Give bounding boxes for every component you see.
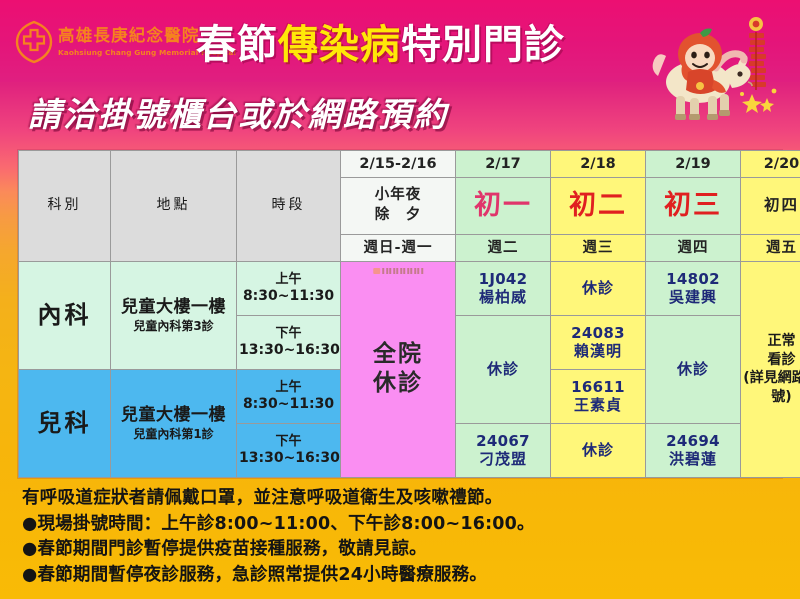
date-header-0217: 2/17 <box>485 156 521 172</box>
slot-label-text: 下午 <box>239 434 338 450</box>
timeslot-pediatrics-afternoon: 下午 13:30~16:30 <box>237 423 341 477</box>
doctor-name: 賴漢明 <box>553 342 643 361</box>
doctor-name: 吳建興 <box>648 288 738 307</box>
date-header-0220: 2/20 <box>764 156 800 172</box>
weekday-header-0219: 週四 <box>678 240 709 256</box>
cell-0219-internal-morning: 14802 吳建興 <box>646 261 741 315</box>
title-segment-highlight: 傳染病 <box>278 12 401 70</box>
weekday-header-0218: 週三 <box>583 240 614 256</box>
normal-line1: 正常 <box>743 332 800 351</box>
normal-line2: 看診 <box>743 351 800 370</box>
lunar-header-day4: 初四 <box>764 196 799 214</box>
table-row: 內科 兒童大樓一樓 兒童內科第3診 上午 8:30~11:30 全院 <box>19 261 800 315</box>
doctor-name: 楊柏威 <box>458 288 548 307</box>
notes-section: 有呼吸道症狀者請佩戴口罩，並注意呼吸道衛生及咳嗽禮節。 ●現場掛號時間：上午診8… <box>22 486 782 589</box>
slot-time-text: 13:30~16:30 <box>239 342 338 360</box>
slot-label-text: 上午 <box>239 380 338 396</box>
page-title: 春節傳染病特別門診 <box>196 14 565 68</box>
timeslot-internal-morning: 上午 8:30~11:30 <box>237 261 341 315</box>
note-line-4: ●春節期間暫停夜診服務，急診照常提供24小時醫療服務。 <box>22 563 782 589</box>
lunar-header-day2: 初二 <box>569 190 627 221</box>
full-closed-line2: 休診 <box>343 369 453 399</box>
doctor-code: 14802 <box>648 270 738 289</box>
doctor-code: 24083 <box>553 324 643 343</box>
slot-label-text: 上午 <box>239 272 338 288</box>
date-header-0219: 2/19 <box>675 156 711 172</box>
place-sub-text: 兒童內科第3診 <box>113 319 234 334</box>
poster-root: 高雄長庚紀念醫院 Kaohsiung Chang Gung Memorial H… <box>0 0 800 599</box>
note-line-3: ●春節期間門診暫停提供疫苗接種服務，敬請見諒。 <box>22 537 782 563</box>
cell-0217-closed-merged: 休診 <box>456 315 551 423</box>
doctor-name: 王素貞 <box>553 396 643 415</box>
cell-0220-normal-service: 正常 看診 (詳見網路掛號) <box>741 261 800 477</box>
column-header-dept: 科別 <box>19 151 111 262</box>
slot-time-text: 8:30~11:30 <box>239 288 338 306</box>
lunar-header-day1: 初一 <box>474 190 532 221</box>
note-line-1: 有呼吸道症狀者請佩戴口罩，並注意呼吸道衛生及咳嗽禮節。 <box>22 486 782 512</box>
table-header-dates-row: 科別 地點 時段 2/15-2/16 2/17 2/18 2/19 2/20 <box>19 151 800 178</box>
weekday-header-0215: 週日-週一 <box>363 240 432 256</box>
full-closed-line1: 全院 <box>343 340 453 370</box>
place-internal-medicine: 兒童大樓一樓 兒童內科第3診 <box>111 261 237 369</box>
note-line-2: ●現場掛號時間：上午診8:00~11:00、下午診8:00~16:00。 <box>22 512 782 538</box>
cell-full-hospital-closed: 全院 休診 <box>341 261 456 477</box>
cell-0218-internal-afternoon: 24083 賴漢明 <box>551 315 646 369</box>
dept-pediatrics: 兒科 <box>19 369 111 477</box>
place-sub-text: 兒童內科第1診 <box>113 427 234 442</box>
watermark-logo-icon <box>373 268 423 274</box>
dept-internal-medicine: 內科 <box>19 261 111 369</box>
cell-0217-internal-morning: 1J042 楊柏威 <box>456 261 551 315</box>
doctor-code: 1J042 <box>458 270 548 289</box>
doctor-code: 24694 <box>648 432 738 451</box>
schedule-table: 科別 地點 時段 2/15-2/16 2/17 2/18 2/19 2/20 小… <box>18 150 800 478</box>
hospital-cross-icon <box>14 20 54 64</box>
doctor-code: 24067 <box>458 432 548 451</box>
lunar-eve: 除 夕 <box>343 206 453 226</box>
place-main-text: 兒童大樓一樓 <box>113 297 234 318</box>
timeslot-pediatrics-morning: 上午 8:30~11:30 <box>237 369 341 423</box>
cell-0219-closed-merged: 休診 <box>646 315 741 423</box>
lunar-header-day3: 初三 <box>664 190 722 221</box>
doctor-code: 16611 <box>553 378 643 397</box>
cell-0218-pediatrics-afternoon: 休診 <box>551 423 646 477</box>
cell-0219-pediatrics-afternoon: 24694 洪碧蓮 <box>646 423 741 477</box>
slot-label-text: 下午 <box>239 326 338 342</box>
weekday-header-0220: 週五 <box>766 240 797 256</box>
subtitle: 請洽掛號櫃台或於網路預約 <box>28 88 448 136</box>
slot-time-text: 8:30~11:30 <box>239 396 338 414</box>
title-segment-1: 春節 <box>196 12 278 70</box>
lunar-header-0215: 小年夜 除 夕 <box>341 178 456 234</box>
slot-time-text: 13:30~16:30 <box>239 450 338 468</box>
weekday-header-0217: 週二 <box>488 240 519 256</box>
doctor-name: 洪碧蓮 <box>648 450 738 469</box>
place-main-text: 兒童大樓一樓 <box>113 405 234 426</box>
timeslot-internal-afternoon: 下午 13:30~16:30 <box>237 315 341 369</box>
cell-0218-pediatrics-morning: 16611 王素貞 <box>551 369 646 423</box>
doctor-name: 刁茂盟 <box>458 450 548 469</box>
title-segment-2: 特別門診 <box>401 12 565 70</box>
cell-0217-pediatrics-afternoon: 24067 刁茂盟 <box>456 423 551 477</box>
place-pediatrics: 兒童大樓一樓 兒童內科第1診 <box>111 369 237 477</box>
hospital-logo: 高雄長庚紀念醫院 Kaohsiung Chang Gung Memorial H… <box>14 14 192 70</box>
date-header-0215: 2/15-2/16 <box>359 156 436 172</box>
date-header-0218: 2/18 <box>580 156 616 172</box>
column-header-timeslot: 時段 <box>237 151 341 262</box>
lunar-eve-small: 小年夜 <box>343 186 453 206</box>
schedule-table-wrapper: 科別 地點 時段 2/15-2/16 2/17 2/18 2/19 2/20 小… <box>18 150 782 478</box>
column-header-place: 地點 <box>111 151 237 262</box>
normal-line3: (詳見網路掛號) <box>743 369 800 407</box>
cell-0218-internal-morning: 休診 <box>551 261 646 315</box>
